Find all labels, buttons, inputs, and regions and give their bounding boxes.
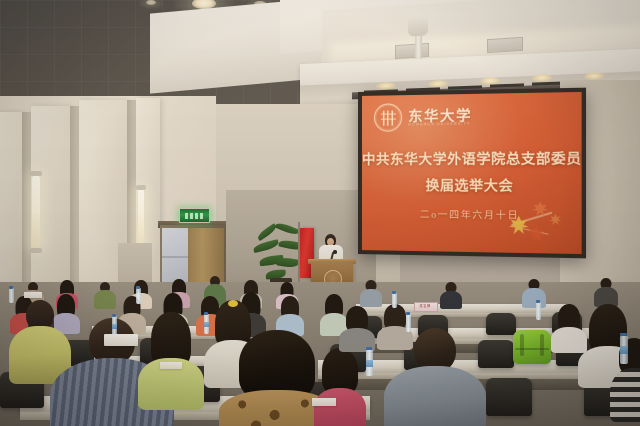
maple-leaf bbox=[549, 214, 562, 227]
bottle-cap bbox=[536, 300, 540, 303]
bottle-label bbox=[204, 322, 209, 327]
water-bottle bbox=[406, 314, 411, 332]
audience-person bbox=[276, 296, 304, 334]
tube-light-cap bbox=[30, 248, 42, 253]
chair bbox=[486, 378, 532, 416]
water-bottle bbox=[136, 288, 141, 304]
person-torso bbox=[522, 288, 546, 308]
person-torso bbox=[551, 327, 587, 353]
person-torso bbox=[314, 388, 366, 426]
bottle-label bbox=[112, 324, 117, 329]
slide-title-line-1: 中共东华大学外语学院总支部委员会 bbox=[362, 147, 582, 168]
person-torso bbox=[610, 368, 640, 422]
handout-papers bbox=[312, 398, 336, 406]
bottle-cap bbox=[406, 312, 410, 315]
bottle-cap bbox=[620, 333, 627, 336]
bottle-label bbox=[620, 346, 628, 354]
handout-papers bbox=[104, 334, 138, 346]
bottle-cap bbox=[9, 286, 13, 289]
person-torso bbox=[94, 290, 116, 309]
hair-tie bbox=[228, 300, 238, 307]
audience-person bbox=[522, 279, 546, 307]
maple-leaf-ornament bbox=[500, 199, 575, 250]
bottle-cap bbox=[136, 286, 140, 289]
person-torso bbox=[440, 291, 462, 309]
microphone-head bbox=[333, 250, 337, 254]
ceiling-downlight bbox=[146, 0, 156, 5]
hair-tie-band bbox=[228, 300, 238, 307]
donghua-seal-icon bbox=[374, 103, 402, 132]
bottle-cap bbox=[112, 314, 116, 317]
audience-person bbox=[552, 304, 586, 348]
person-torso bbox=[384, 366, 486, 426]
audience-person bbox=[594, 278, 618, 306]
door-glass-divider bbox=[162, 256, 189, 258]
handout-papers bbox=[160, 362, 182, 369]
seal-mark-glyph bbox=[380, 110, 395, 125]
slide-title-line-2: 换届选举大会 bbox=[362, 174, 582, 195]
water-bottle bbox=[536, 302, 541, 320]
bottle-cap bbox=[392, 291, 396, 294]
backpack-zip bbox=[515, 348, 549, 350]
audience-person bbox=[360, 280, 382, 306]
audience-person bbox=[440, 282, 462, 308]
water-bottle bbox=[392, 293, 397, 308]
exit-sign-icon bbox=[179, 208, 210, 223]
tube-light-cap bbox=[30, 171, 42, 176]
tube-light-cap bbox=[136, 185, 146, 190]
water-bottle bbox=[9, 288, 14, 303]
exit-sign-glyph bbox=[185, 213, 205, 219]
palm-frond bbox=[276, 256, 299, 268]
bottle-cap bbox=[204, 312, 208, 315]
projection-screen-content: 东华大学 DONGHUA UNIVERSITY 中共东华大学外语学院总支部委员会… bbox=[362, 92, 582, 254]
palm-frond bbox=[252, 239, 279, 253]
audience-person bbox=[140, 312, 202, 406]
handout-papers bbox=[24, 292, 42, 298]
air-vent bbox=[487, 37, 523, 53]
projection-screen: 东华大学 DONGHUA UNIVERSITY 中共东华大学外语学院总支部委员会… bbox=[358, 88, 586, 259]
backpack-strap bbox=[520, 334, 524, 356]
audience-person bbox=[94, 282, 116, 308]
university-wordmark-english: DONGHUA UNIVERSITY bbox=[408, 122, 470, 127]
bottle-label bbox=[366, 360, 373, 367]
audience-person bbox=[340, 306, 374, 348]
wall-tube-light bbox=[32, 175, 40, 249]
bottle-cap bbox=[366, 347, 372, 350]
green-backpack bbox=[513, 330, 551, 364]
name-card-label: 姓名牌 bbox=[415, 303, 435, 308]
audience-person bbox=[316, 348, 364, 426]
backpack-strap bbox=[540, 334, 544, 356]
wall-tube-light bbox=[138, 188, 144, 250]
air-vent bbox=[395, 43, 429, 59]
palm-frond bbox=[275, 221, 300, 236]
chair bbox=[486, 313, 516, 335]
ceiling-projector-mount bbox=[408, 17, 428, 36]
conference-hall-photo: 东华大学 DONGHUA UNIVERSITY 中共东华大学外语学院总支部委员会… bbox=[0, 0, 640, 426]
